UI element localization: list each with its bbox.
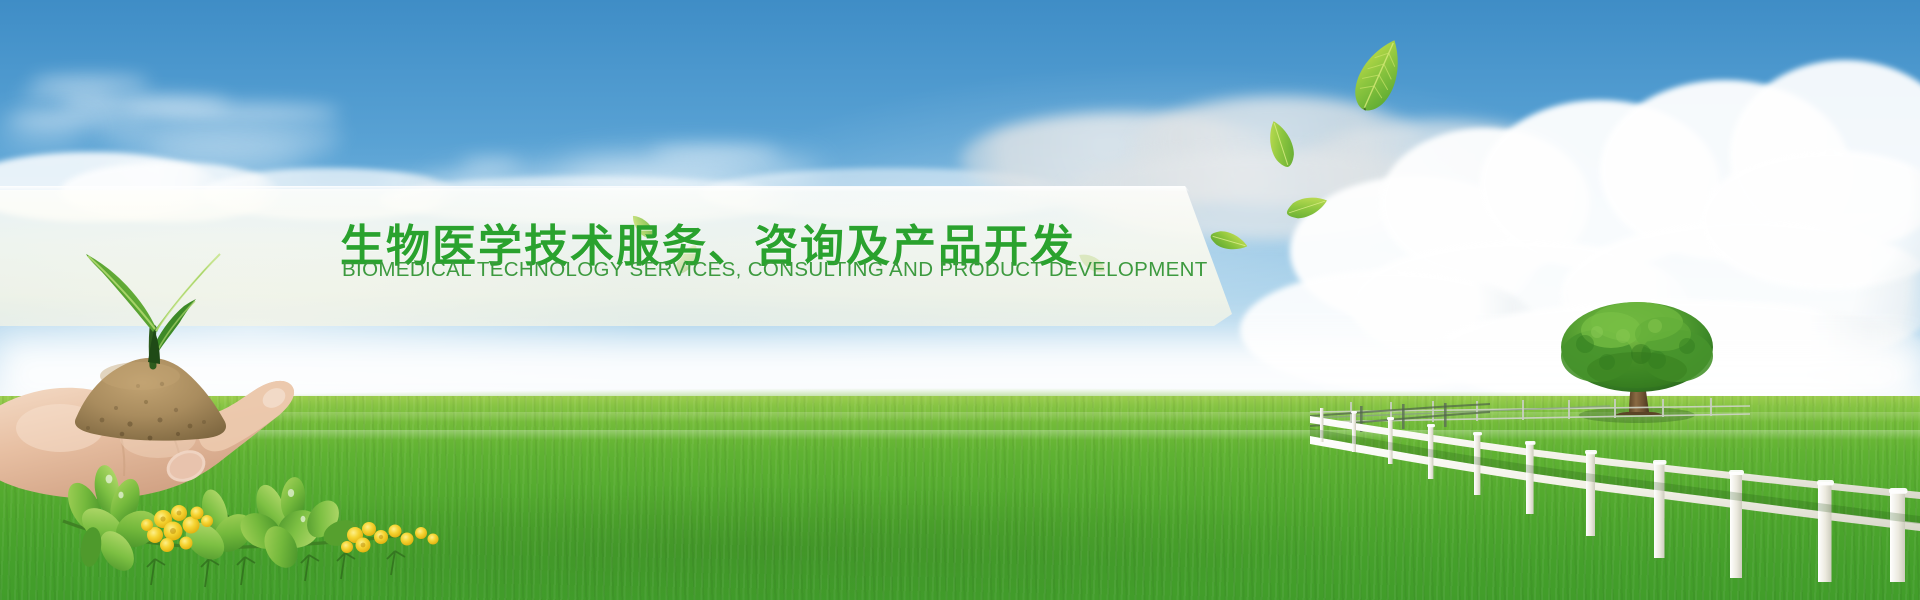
fence-icon [1310,392,1920,582]
cloud-icon [460,160,520,169]
cloud-icon [0,120,90,142]
cloud-icon [30,76,150,90]
cloud-icon [130,104,340,122]
cloud-icon [95,126,345,142]
hero-banner: 生物医学技术服务、咨询及产品开发 BIOMEDICAL TECHNOLOGY S… [0,0,1920,600]
page-subtitle: BIOMEDICAL TECHNOLOGY SERVICES, CONSULTI… [342,258,1208,282]
flower-icon [55,455,445,600]
